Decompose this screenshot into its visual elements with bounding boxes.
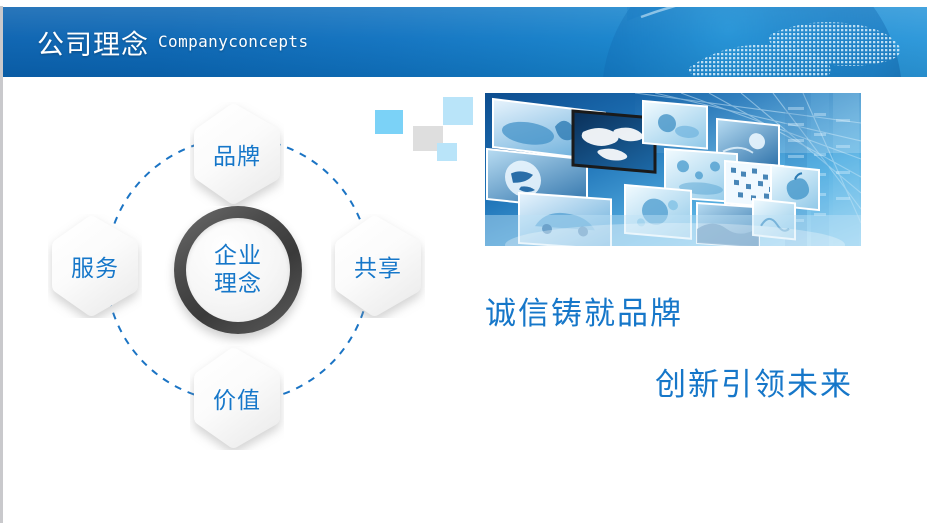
slogan-line-1: 诚信铸就品牌: [485, 288, 885, 333]
decorative-square-blue: [375, 110, 403, 134]
center-label-line-2: 理念: [214, 270, 262, 298]
technology-screens-photo: [485, 93, 861, 246]
slide-header-bar: 公司理念 Companyconcepts: [3, 7, 927, 77]
page-title: 公司理念: [37, 23, 149, 62]
diagram-node-service[interactable]: 服务: [48, 214, 142, 318]
company-concept-diagram: 品牌 共享 价值 服务 企业 理念: [40, 92, 440, 467]
slide-top-margin: [0, 0, 927, 6]
decorative-square-pale-large: [443, 97, 473, 125]
diagram-node-share[interactable]: 共享: [331, 214, 425, 318]
slide-canvas: 公司理念 Companyconcepts 品牌: [0, 0, 927, 523]
diagram-node-value[interactable]: 价值: [190, 346, 284, 450]
diagram-node-label: 价值: [190, 346, 284, 450]
diagram-node-label: 共享: [331, 214, 425, 318]
slogan-line-2: 创新引领未来: [655, 359, 885, 404]
page-subtitle: Companyconcepts: [158, 32, 309, 53]
decorative-square-pale-small: [437, 143, 457, 161]
photo-illustration: [485, 93, 861, 246]
diagram-center-node[interactable]: 企业 理念: [174, 206, 302, 334]
diagram-center-inner: 企业 理念: [186, 218, 290, 322]
diagram-node-label: 服务: [48, 214, 142, 318]
globe-world-map-graphic: [537, 7, 927, 77]
diagram-node-label: 品牌: [190, 102, 284, 206]
slogan-block: 诚信铸就品牌 创新引领未来: [485, 288, 885, 404]
header-title-group: 公司理念 Companyconcepts: [37, 7, 309, 77]
diagram-node-brand[interactable]: 品牌: [190, 102, 284, 206]
slide-left-border: [0, 0, 3, 523]
center-label-line-1: 企业: [214, 242, 262, 270]
